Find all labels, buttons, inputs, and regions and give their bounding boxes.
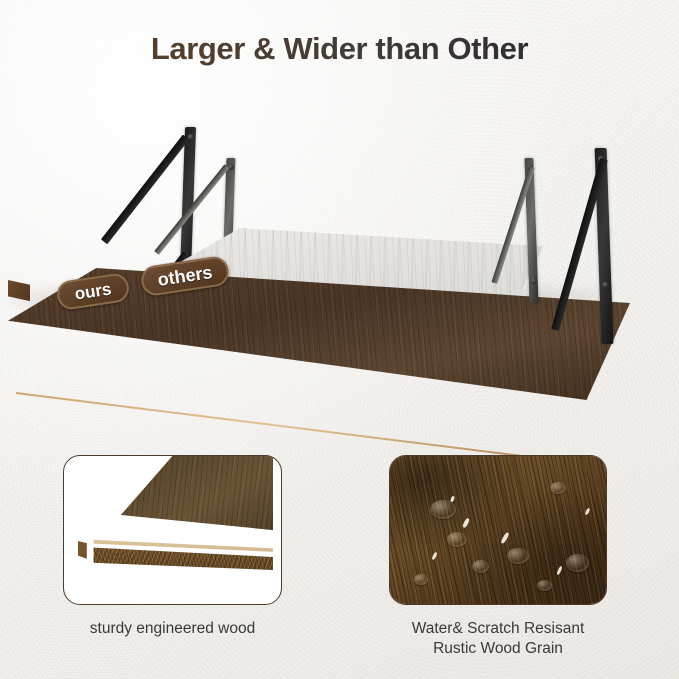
water-droplet — [430, 500, 456, 519]
wood-grain-texture — [390, 456, 606, 604]
panel-frame — [389, 455, 607, 605]
droplet-highlight — [450, 496, 455, 503]
water-droplet — [414, 574, 428, 585]
water-droplet — [537, 580, 552, 591]
droplet-highlight — [462, 518, 470, 529]
product-comparison-hero — [0, 100, 679, 430]
water-droplet — [507, 548, 529, 564]
water-droplet — [566, 554, 589, 572]
shelf-ours-left-end-cap — [8, 280, 30, 314]
droplet-highlight — [500, 532, 509, 544]
page-title: Larger & Wider than Other — [0, 31, 679, 67]
panel-caption-engineered-wood: sturdy engineered wood — [63, 619, 282, 639]
water-droplet — [447, 532, 467, 547]
panel-caption-water-resistant: Water& Scratch Resisant Rustic Wood Grai… — [389, 619, 607, 659]
screw-icon — [602, 282, 608, 288]
water-droplet — [472, 560, 489, 573]
detail-panels: sturdy engineered wood Water& Scratc — [0, 447, 679, 679]
screw-icon — [530, 278, 536, 284]
droplet-highlight — [556, 566, 562, 575]
panel-frame — [63, 455, 282, 605]
water-droplet — [550, 482, 566, 494]
droplet-highlight — [431, 552, 437, 561]
droplet-highlight — [585, 508, 591, 516]
